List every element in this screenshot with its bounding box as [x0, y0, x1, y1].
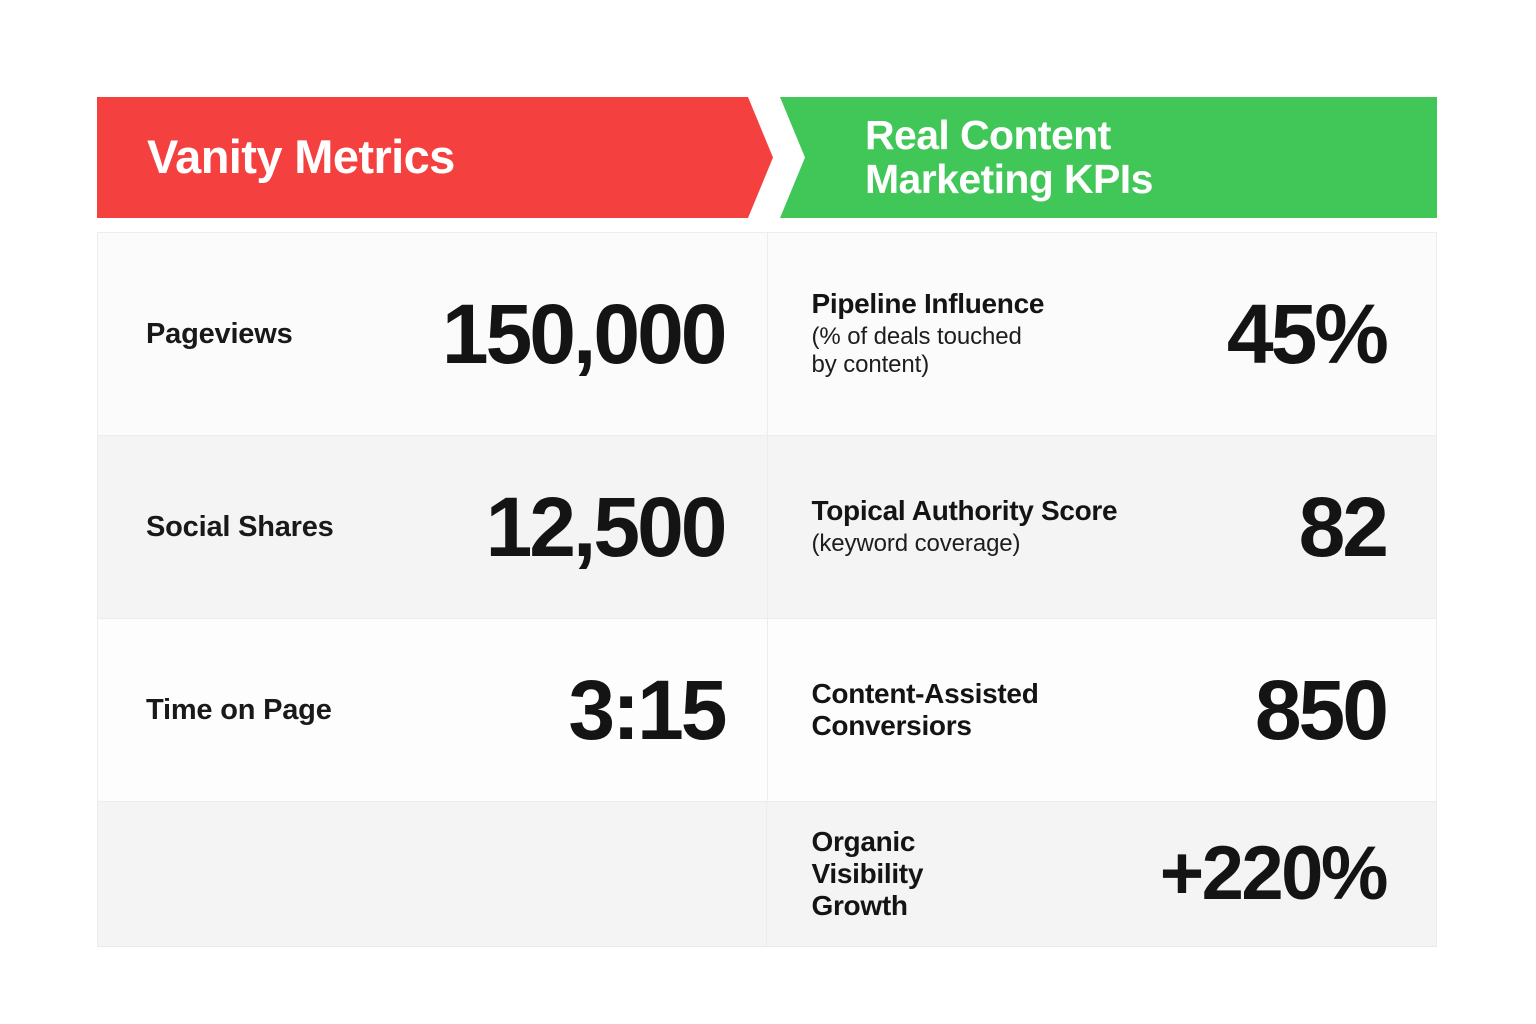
cell-vanity-pageviews: Pageviews 150,000	[98, 233, 768, 435]
header-title-real-kpis: Real Content Marketing KPIs	[865, 114, 1153, 202]
metric-label-content-assisted-line1: Content-Assisted	[812, 678, 1039, 710]
cell-vanity-time-on-page: Time on Page 3:15	[98, 619, 768, 801]
metric-value-topical-authority: 82	[1299, 485, 1386, 569]
metric-value-organic-visibility-growth: +220%	[1160, 836, 1386, 912]
cell-kpi-topical-authority: Topical Authority Score (keyword coverag…	[768, 436, 1437, 618]
metric-value-pipeline-influence: 45%	[1227, 292, 1386, 376]
cell-vanity-empty	[98, 802, 767, 946]
comparison-table: Vanity Metrics Real Content Marketing KP…	[97, 97, 1437, 947]
metric-label-pipeline-influence: Pipeline Influence	[812, 288, 1045, 320]
header-banner-real-kpis: Real Content Marketing KPIs	[755, 97, 1437, 218]
metric-label-social-shares: Social Shares	[146, 511, 334, 544]
table-row: Pageviews 150,000 Pipeline Influence (% …	[98, 233, 1436, 436]
metric-sublabel-topical-authority: (keyword coverage)	[812, 530, 1118, 559]
metric-value-social-shares: 12,500	[486, 485, 725, 569]
header-title-real-kpis-line2: Marketing KPIs	[865, 158, 1153, 202]
cell-vanity-social-shares: Social Shares 12,500	[98, 436, 768, 618]
metric-sublabel-pipeline-influence-line1: (% of deals touched	[812, 323, 1045, 352]
table-header-banners: Vanity Metrics Real Content Marketing KP…	[97, 97, 1437, 218]
header-title-real-kpis-line1: Real Content	[865, 114, 1153, 158]
metrics-grid: Pageviews 150,000 Pipeline Influence (% …	[97, 232, 1437, 947]
header-banner-vanity-metrics: Vanity Metrics	[97, 97, 773, 218]
cell-kpi-organic-visibility-growth: Organic Visibility Growth +220%	[767, 802, 1436, 946]
metric-label-organic-visibility-line3: Growth	[811, 890, 923, 922]
metric-label-organic-visibility-line1: Organic	[811, 826, 923, 858]
table-row: Time on Page 3:15 Content-Assisted Conve…	[98, 619, 1436, 802]
metric-label-block-content-assisted-conversions: Content-Assisted Conversiors	[812, 678, 1039, 742]
table-row: Social Shares 12,500 Topical Authority S…	[98, 436, 1436, 619]
metric-value-content-assisted-conversions: 850	[1255, 668, 1386, 752]
metric-label-block-organic-visibility-growth: Organic Visibility Growth	[811, 826, 923, 922]
metric-value-pageviews: 150,000	[442, 292, 725, 376]
cell-kpi-content-assisted-conversions: Content-Assisted Conversiors 850	[768, 619, 1437, 801]
metric-label-organic-visibility-line2: Visibility	[811, 858, 923, 890]
metric-sublabel-pipeline-influence-line2: by content)	[812, 351, 1045, 380]
metric-label-block-topical-authority: Topical Authority Score (keyword coverag…	[812, 495, 1118, 559]
metric-label-topical-authority: Topical Authority Score	[812, 495, 1118, 527]
cell-kpi-pipeline-influence: Pipeline Influence (% of deals touched b…	[768, 233, 1437, 435]
metric-label-pageviews: Pageviews	[146, 318, 293, 351]
metric-value-time-on-page: 3:15	[568, 668, 724, 752]
metric-label-time-on-page: Time on Page	[146, 694, 332, 727]
table-row: Organic Visibility Growth +220%	[98, 802, 1436, 946]
metric-label-block-pipeline-influence: Pipeline Influence (% of deals touched b…	[812, 288, 1045, 381]
header-title-vanity-metrics: Vanity Metrics	[147, 133, 455, 182]
metric-label-content-assisted-line2: Conversiors	[812, 710, 1039, 742]
